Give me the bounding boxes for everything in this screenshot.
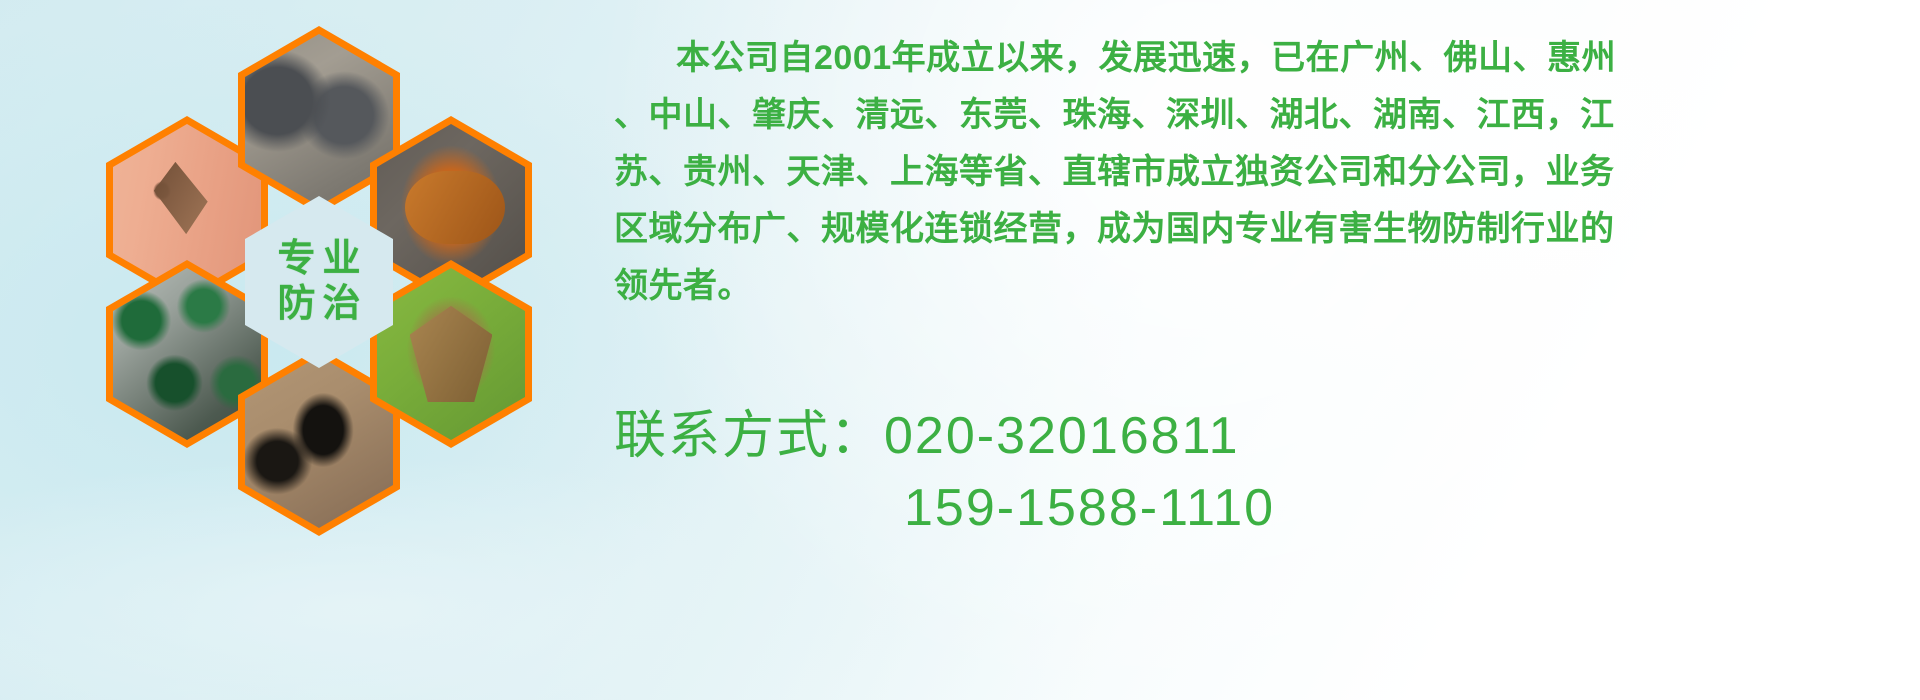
honeycomb-photo-cluster: 专业 防治 bbox=[88, 8, 588, 568]
intro-line-5: 领先者。 bbox=[614, 258, 1914, 315]
intro-line-4: 区域分布广、规模化连锁经营，成为国内专业有害生物防制行业的 bbox=[614, 201, 1914, 258]
banner-stage: 专业 防治 本公司自2001年成立以来，发展迅速，已在广州、佛山、惠州 、中山、… bbox=[0, 0, 1920, 700]
contact-line-primary[interactable]: 联系方式：020-32016811 bbox=[614, 400, 1914, 472]
intro-paragraph: 本公司自2001年成立以来，发展迅速，已在广州、佛山、惠州 、中山、肇庆、清远、… bbox=[614, 30, 1914, 315]
logo-line-2: 防治 bbox=[270, 285, 367, 324]
contact-block: 联系方式：020-32016811 159-1588-1110 bbox=[614, 400, 1914, 544]
logo-line-1: 专业 bbox=[270, 240, 367, 279]
intro-line-2: 、中山、肇庆、清远、东莞、珠海、深圳、湖北、湖南、江西，江 bbox=[614, 87, 1914, 144]
contact-line-secondary[interactable]: 159-1588-1110 bbox=[614, 472, 1914, 544]
intro-line-1: 本公司自2001年成立以来，发展迅速，已在广州、佛山、惠州 bbox=[614, 30, 1914, 87]
intro-line-3: 苏、贵州、天津、上海等省、直辖市成立独资公司和分公司，业务 bbox=[614, 144, 1914, 201]
